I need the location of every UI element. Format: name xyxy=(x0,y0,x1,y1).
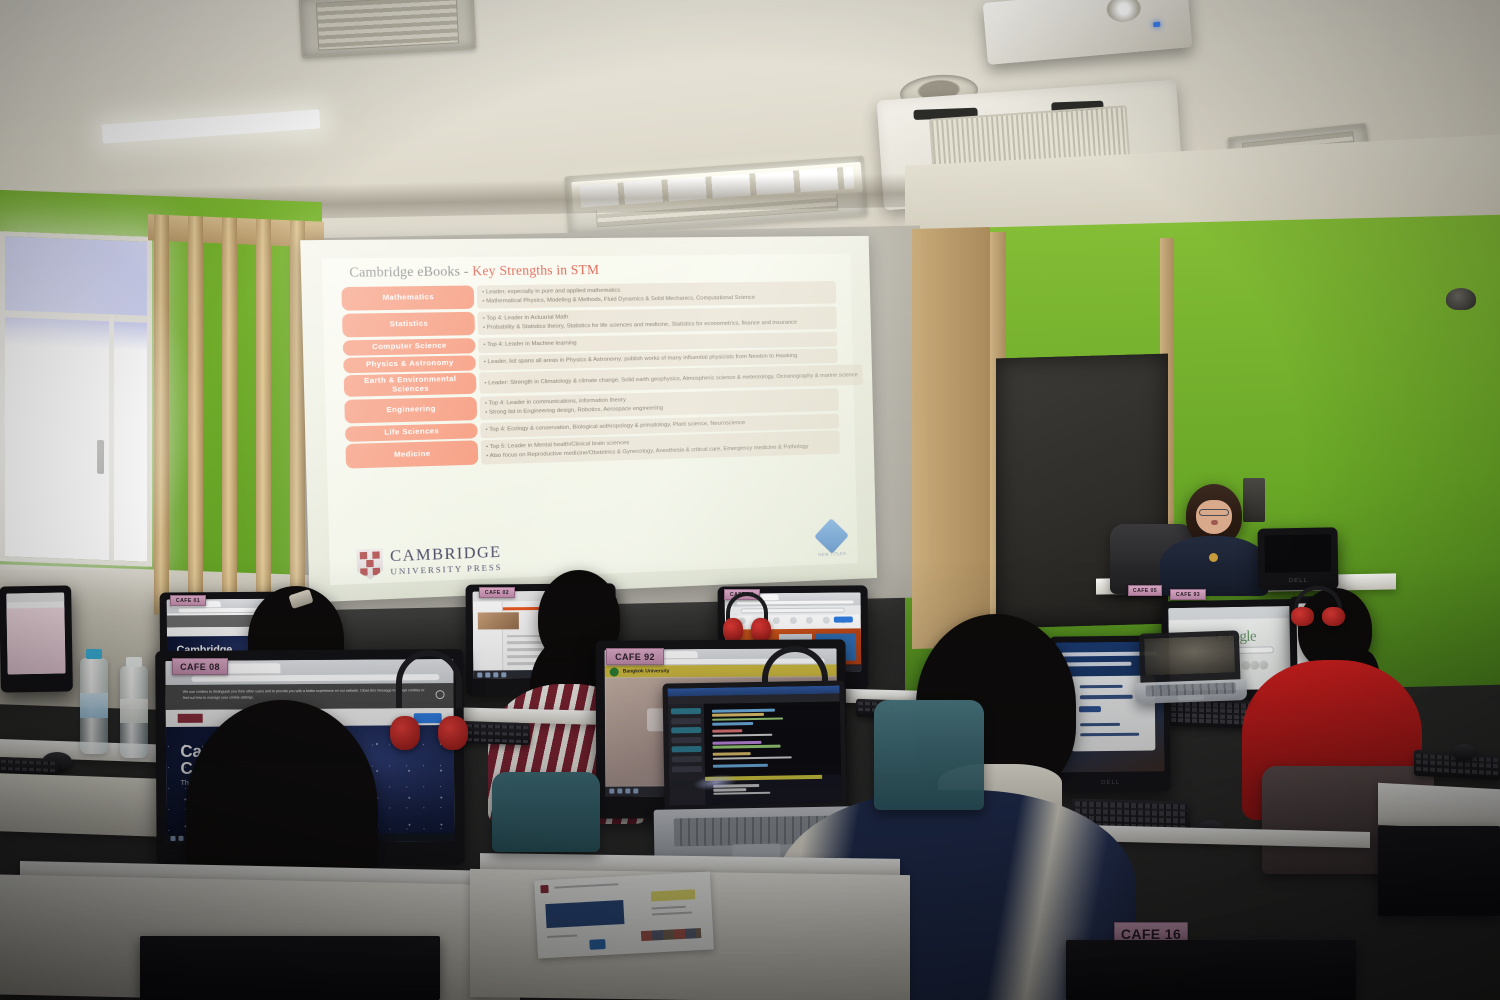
presenter-mouth xyxy=(1211,520,1218,525)
water-bottle xyxy=(120,666,148,758)
water-bottle xyxy=(80,658,108,754)
presenter-torso xyxy=(1160,536,1268,596)
slide-corner-badge: NEW TITLES xyxy=(818,523,847,557)
diamond-badge-icon xyxy=(814,518,849,554)
chair-center xyxy=(874,700,984,810)
site-label: Bangkok University xyxy=(623,668,670,674)
slide-footer-logo: CAMBRIDGE UNIVERSITY PRESS xyxy=(357,544,503,580)
workstation-label-cafe-93: CAFE 93 xyxy=(1170,589,1206,600)
workstation-label-cafe-08: CAFE 08 xyxy=(172,658,228,675)
headset-cafe-08[interactable] xyxy=(396,650,462,750)
glasses-icon xyxy=(1199,509,1229,516)
thai-slide-button xyxy=(1079,706,1101,712)
slide-bullet: • Leader, list spans all areas in Physic… xyxy=(484,352,833,368)
primary-button[interactable] xyxy=(834,617,853,623)
presenter-face xyxy=(1196,500,1232,534)
slide-row-category: Computer Science xyxy=(343,338,476,355)
slide-title: Cambridge eBooks - Key Strengths in STM xyxy=(349,262,599,281)
partition-far-right xyxy=(1378,826,1500,916)
workstation-label-cafe-02: CAFE 02 xyxy=(479,587,515,598)
workstation-label-cafe-05: CAFE 05 xyxy=(1128,585,1162,596)
printed-handout xyxy=(534,871,714,958)
wood-panel-right xyxy=(912,227,990,649)
headset-cafe-93[interactable] xyxy=(726,592,768,642)
slide-bullet: • Top 4: Leader in Machine learning xyxy=(483,335,832,350)
mouse-far-right[interactable] xyxy=(1452,744,1476,760)
chair-left-center xyxy=(492,772,600,852)
slide-row-category: Physics & Astronomy xyxy=(343,355,476,373)
cookie-notice-text: We use cookies to distinguish you from o… xyxy=(183,688,425,700)
monitor-brand: DELL xyxy=(1051,773,1171,792)
desk-left-surface xyxy=(0,773,160,837)
slide-title-prefix: Cambridge eBooks - xyxy=(349,263,472,280)
site-logo xyxy=(177,714,203,723)
site-favicon xyxy=(610,667,619,676)
slide-row-category: Medicine xyxy=(345,440,478,468)
workstation-label-cafe-92: CAFE 92 xyxy=(606,648,664,665)
slide-row-category: Statistics xyxy=(342,312,475,338)
slide-row-bullets: • Leader, especially in pure and applied… xyxy=(477,281,836,309)
presentation-slide: Cambridge eBooks - Key Strengths in STM … xyxy=(322,254,858,586)
headset-right[interactable] xyxy=(1294,586,1342,626)
slide-bullet: • Leader: Strength in Climatology & clim… xyxy=(484,371,858,388)
classroom-window xyxy=(0,231,152,567)
air-diffuser-vent-icon xyxy=(298,0,476,59)
code-editor xyxy=(668,686,842,806)
slide-row-category: Earth & Environmental Sciences xyxy=(344,373,477,397)
laptop-background xyxy=(1139,630,1241,703)
security-camera-icon xyxy=(1446,288,1476,310)
presenter-monitor: DELL xyxy=(1257,527,1338,590)
wall-speaker xyxy=(1243,478,1265,522)
slide-row-category: Engineering xyxy=(344,397,477,424)
projection-screen: Cambridge eBooks - Key Strengths in STM … xyxy=(300,236,877,603)
classroom-photo: Cambridge eBooks - Key Strengths in STM … xyxy=(0,0,1500,1000)
desk-far-right xyxy=(1378,783,1500,831)
slide-title-accent: Key Strengths in STM xyxy=(472,262,599,278)
slide-rows: Mathematics • Leader, especially in pure… xyxy=(341,281,840,471)
workstation-label-cafe-01: CAFE 01 xyxy=(170,595,206,606)
presenter-necklace xyxy=(1209,553,1218,562)
slide-row-category: Life Sciences xyxy=(345,423,478,442)
slide-row-bullets: • Top 4: Leader in Actuarial Math • Prob… xyxy=(477,306,836,335)
cambridge-crest-icon xyxy=(357,548,384,580)
partition-front-left xyxy=(140,936,440,1000)
partition-cafe-16 xyxy=(1066,940,1356,1000)
wooden-slat-screen xyxy=(148,214,324,621)
keyboard-cafe-02[interactable] xyxy=(458,721,530,746)
monitor-left-edge xyxy=(0,585,73,692)
slide-row-category: Mathematics xyxy=(341,285,474,311)
